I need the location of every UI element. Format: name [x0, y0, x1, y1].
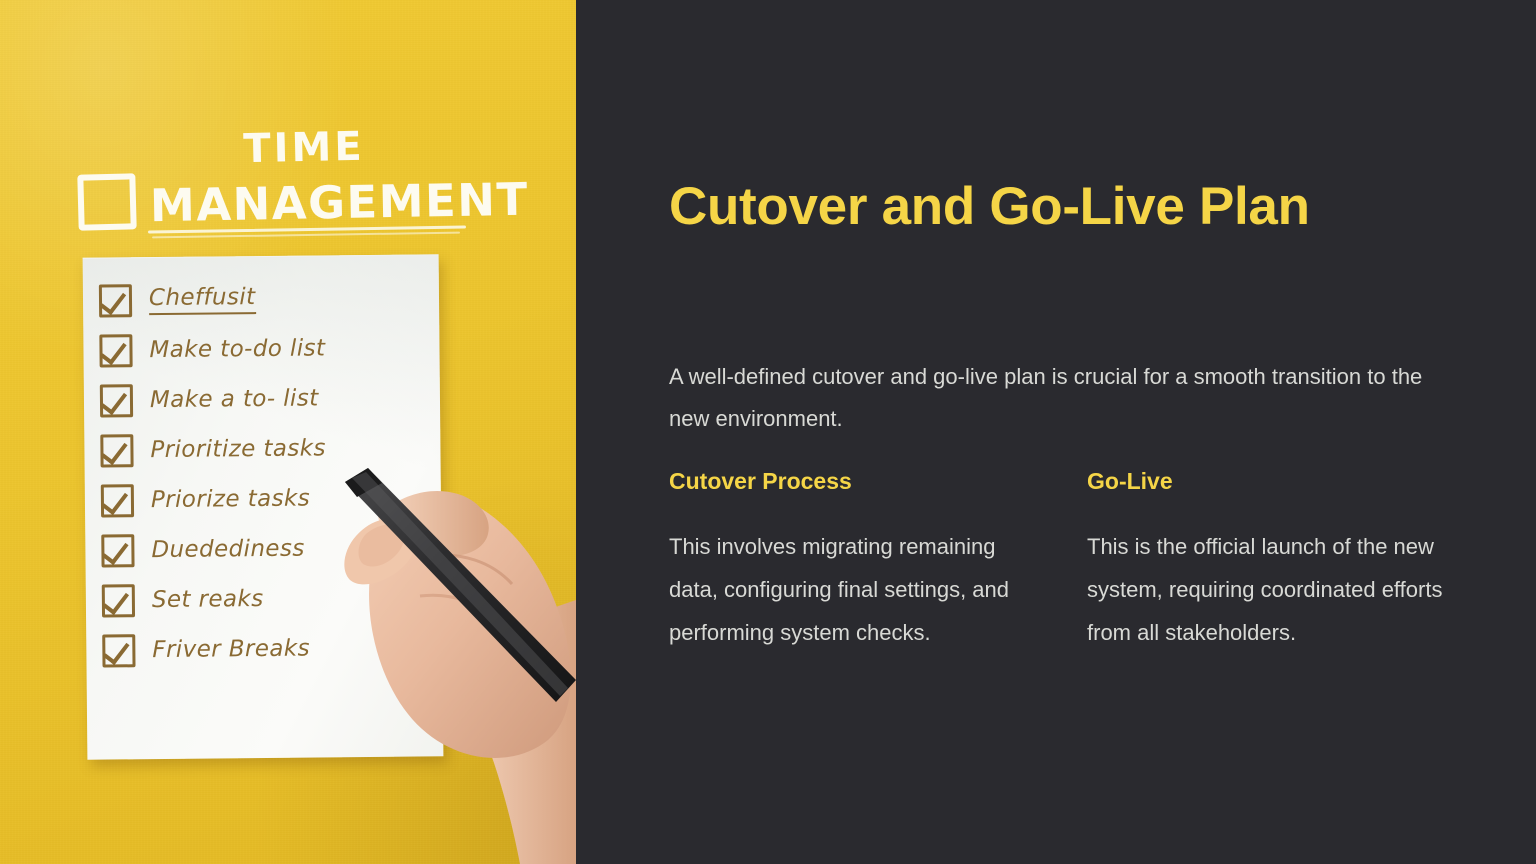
photo-header-line1: TIME [130, 124, 479, 171]
intro-paragraph: A well-defined cutover and go-live plan … [669, 356, 1439, 440]
checked-checkbox-icon [101, 484, 134, 517]
checked-checkbox-icon [101, 534, 134, 567]
checked-checkbox-icon [102, 634, 135, 667]
paper-sheet: Cheffusit Make to-do list Make a to- lis… [83, 254, 444, 759]
slide: TIME MANAGEMENT Cheffusit Make to-do lis… [0, 0, 1536, 864]
list-item-label: Prioritize tasks [150, 435, 326, 463]
page-title: Cutover and Go-Live Plan [669, 176, 1310, 237]
list-item: Set reaks [102, 572, 432, 625]
list-item-label: Set reaks [152, 586, 264, 613]
column-body: This involves migrating remaining data, … [669, 525, 1025, 654]
list-item-label: Make to-do list [149, 335, 325, 363]
list-item: Make to-do list [99, 322, 429, 375]
list-item-label: Friver Breaks [152, 636, 310, 664]
empty-checkbox-icon [77, 173, 136, 230]
columns: Cutover Process This involves migrating … [669, 468, 1469, 654]
column-heading: Go-Live [1087, 468, 1443, 495]
photo-header-row: MANAGEMENT [78, 174, 478, 230]
content-panel: Cutover and Go-Live Plan A well-defined … [576, 0, 1536, 864]
list-item-label: Cheffusit [149, 284, 256, 315]
column-heading: Cutover Process [669, 468, 1025, 495]
time-management-photo: TIME MANAGEMENT Cheffusit Make to-do lis… [0, 0, 576, 864]
checked-checkbox-icon [100, 384, 133, 417]
list-item-label: Duedediness [151, 536, 305, 563]
list-item: Prioritize tasks [100, 422, 430, 475]
column-body: This is the official launch of the new s… [1087, 525, 1443, 654]
column-go-live: Go-Live This is the official launch of t… [1087, 468, 1443, 654]
list-item-label: Priorize tasks [151, 486, 310, 514]
photo-header-line2: MANAGEMENT [150, 176, 529, 228]
list-item: Duedediness [101, 522, 431, 575]
list-item-label: Make a to- list [150, 385, 319, 413]
checked-checkbox-icon [100, 434, 133, 467]
photo-header: TIME MANAGEMENT [78, 128, 478, 230]
checklist: Cheffusit Make to-do list Make a to- lis… [99, 272, 433, 675]
list-item: Make a to- list [100, 372, 430, 425]
checked-checkbox-icon [102, 584, 135, 617]
checked-checkbox-icon [99, 334, 132, 367]
list-item: Cheffusit [99, 272, 429, 325]
checked-checkbox-icon [99, 284, 132, 317]
list-item: Friver Breaks [102, 622, 432, 675]
list-item: Priorize tasks [101, 472, 431, 525]
column-cutover-process: Cutover Process This involves migrating … [669, 468, 1025, 654]
